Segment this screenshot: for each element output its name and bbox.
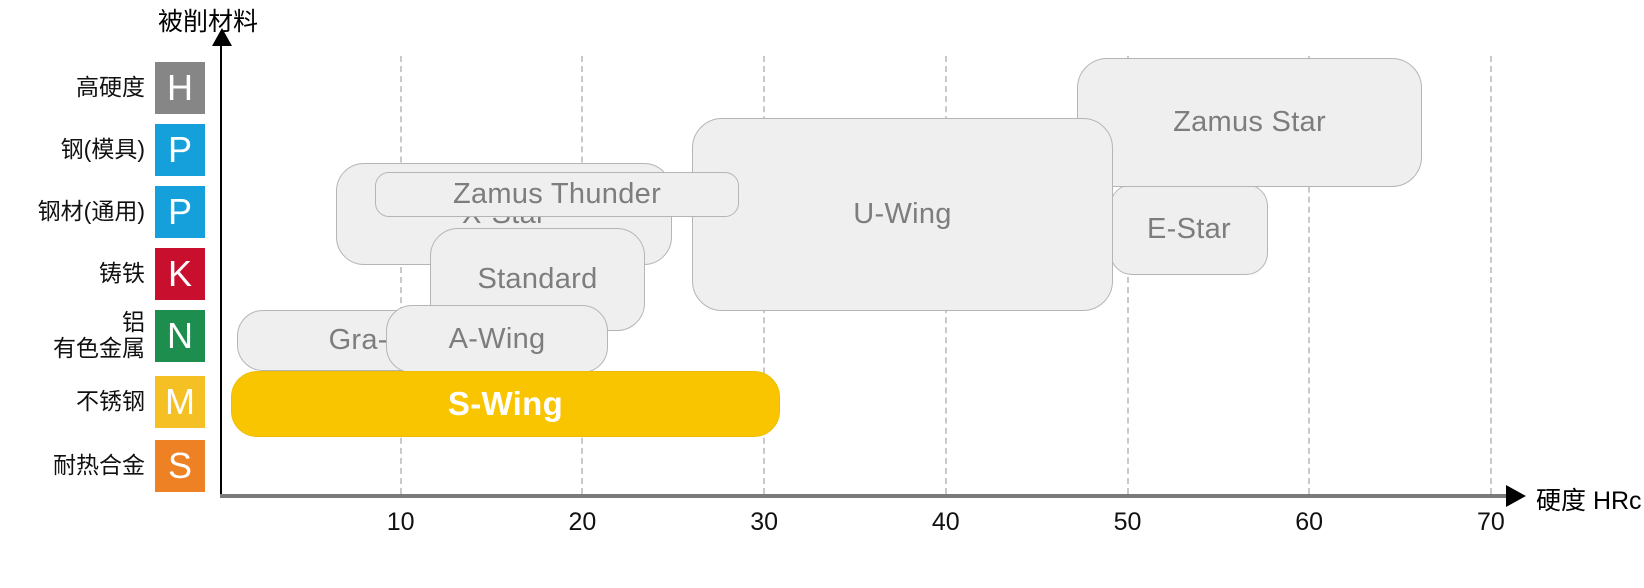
category-chip-P-1[interactable]: P — [155, 124, 205, 176]
bar-label: U-Wing — [853, 198, 951, 231]
category-chip-P-2[interactable]: P — [155, 186, 205, 238]
bar-u-wing[interactable]: U-Wing — [692, 118, 1113, 311]
x-tick-label-60: 60 — [1269, 508, 1349, 537]
bar-e-star[interactable]: E-Star — [1110, 184, 1268, 275]
x-tick-label-50: 50 — [1088, 508, 1168, 537]
bar-label: Standard — [477, 263, 597, 296]
category-chip-S-6[interactable]: S — [155, 440, 205, 492]
category-chip-N-4[interactable]: N — [155, 310, 205, 362]
x-tick-label-70: 70 — [1451, 508, 1531, 537]
x-tick-label-20: 20 — [542, 508, 622, 537]
y-axis-title: 被削材料 — [158, 2, 258, 38]
category-label-S-6: 耐热合金 — [0, 453, 145, 479]
x-tick-label-30: 30 — [724, 508, 804, 537]
bar-label: S-Wing — [448, 385, 563, 423]
category-chip-K-3[interactable]: K — [155, 248, 205, 300]
category-label-K-3: 铸铁 — [0, 261, 145, 287]
x-tick-label-10: 10 — [361, 508, 441, 537]
gridline-70 — [1490, 56, 1492, 494]
bar-a-wing[interactable]: A-Wing — [386, 305, 608, 373]
x-tick-label-40: 40 — [906, 508, 986, 537]
bar-zamus-star[interactable]: Zamus Star — [1077, 58, 1422, 187]
y-axis-line — [220, 44, 222, 496]
category-label-M-5: 不锈钢 — [0, 389, 145, 415]
bar-label: E-Star — [1147, 213, 1231, 246]
bar-label: A-Wing — [449, 323, 546, 356]
category-label-H-0: 高硬度 — [0, 75, 145, 101]
category-chip-M-5[interactable]: M — [155, 376, 205, 428]
category-label-P-1: 钢(模具) — [0, 137, 145, 163]
category-label-N-4: 铝 有色金属 — [0, 310, 145, 362]
category-chip-H-0[interactable]: H — [155, 62, 205, 114]
bar-label: Zamus Star — [1173, 106, 1326, 139]
x-axis-arrow-icon — [1506, 485, 1526, 507]
bar-s-wing[interactable]: S-Wing — [231, 371, 780, 437]
x-axis-line — [220, 494, 1508, 498]
chart-canvas: 被削材料 Zamus StarU-WingE-StarZamus Thunder… — [0, 0, 1644, 588]
x-axis-title: 硬度 HRc — [1536, 481, 1642, 517]
bar-label: Zamus Thunder — [453, 178, 661, 211]
y-axis-arrow-icon — [212, 28, 232, 46]
bar-zamus-thunder[interactable]: Zamus Thunder — [375, 172, 739, 217]
category-label-P-2: 钢材(通用) — [0, 199, 145, 225]
